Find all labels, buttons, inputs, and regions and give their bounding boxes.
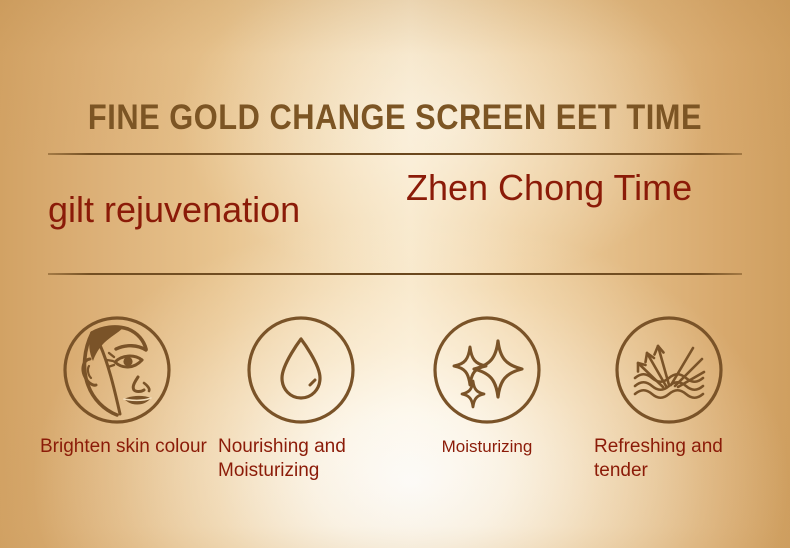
water-droplet-icon — [246, 315, 356, 425]
feature-item-brighten: Brighten skin colour — [22, 310, 212, 459]
feature-label: Moisturizing — [392, 435, 582, 459]
page-title: FINE GOLD CHANGE SCREEN EET TIME — [47, 96, 742, 140]
feature-list: Brighten skin colour Nourishing and Mois… — [0, 310, 790, 510]
divider-bottom — [48, 273, 742, 275]
feature-label: Refreshing and tender — [592, 435, 764, 483]
promo-banner: FINE GOLD CHANGE SCREEN EET TIME gilt re… — [0, 0, 790, 548]
feature-label: Brighten skin colour — [38, 435, 212, 459]
headline-secondary: Zhen Chong Time — [406, 166, 706, 210]
sparkles-icon — [432, 315, 542, 425]
divider-top — [48, 153, 742, 155]
feature-item-refreshing: Refreshing and tender — [574, 310, 764, 483]
feature-item-nourishing: Nourishing and Moisturizing — [206, 310, 396, 483]
feature-label: Nourishing and Moisturizing — [216, 435, 396, 483]
headline-primary: gilt rejuvenation — [48, 188, 408, 232]
headline-row: gilt rejuvenation Zhen Chong Time — [48, 166, 748, 266]
feature-item-moisturizing: Moisturizing — [392, 310, 582, 459]
waves-arrows-icon — [614, 315, 724, 425]
woman-face-icon — [62, 315, 172, 425]
